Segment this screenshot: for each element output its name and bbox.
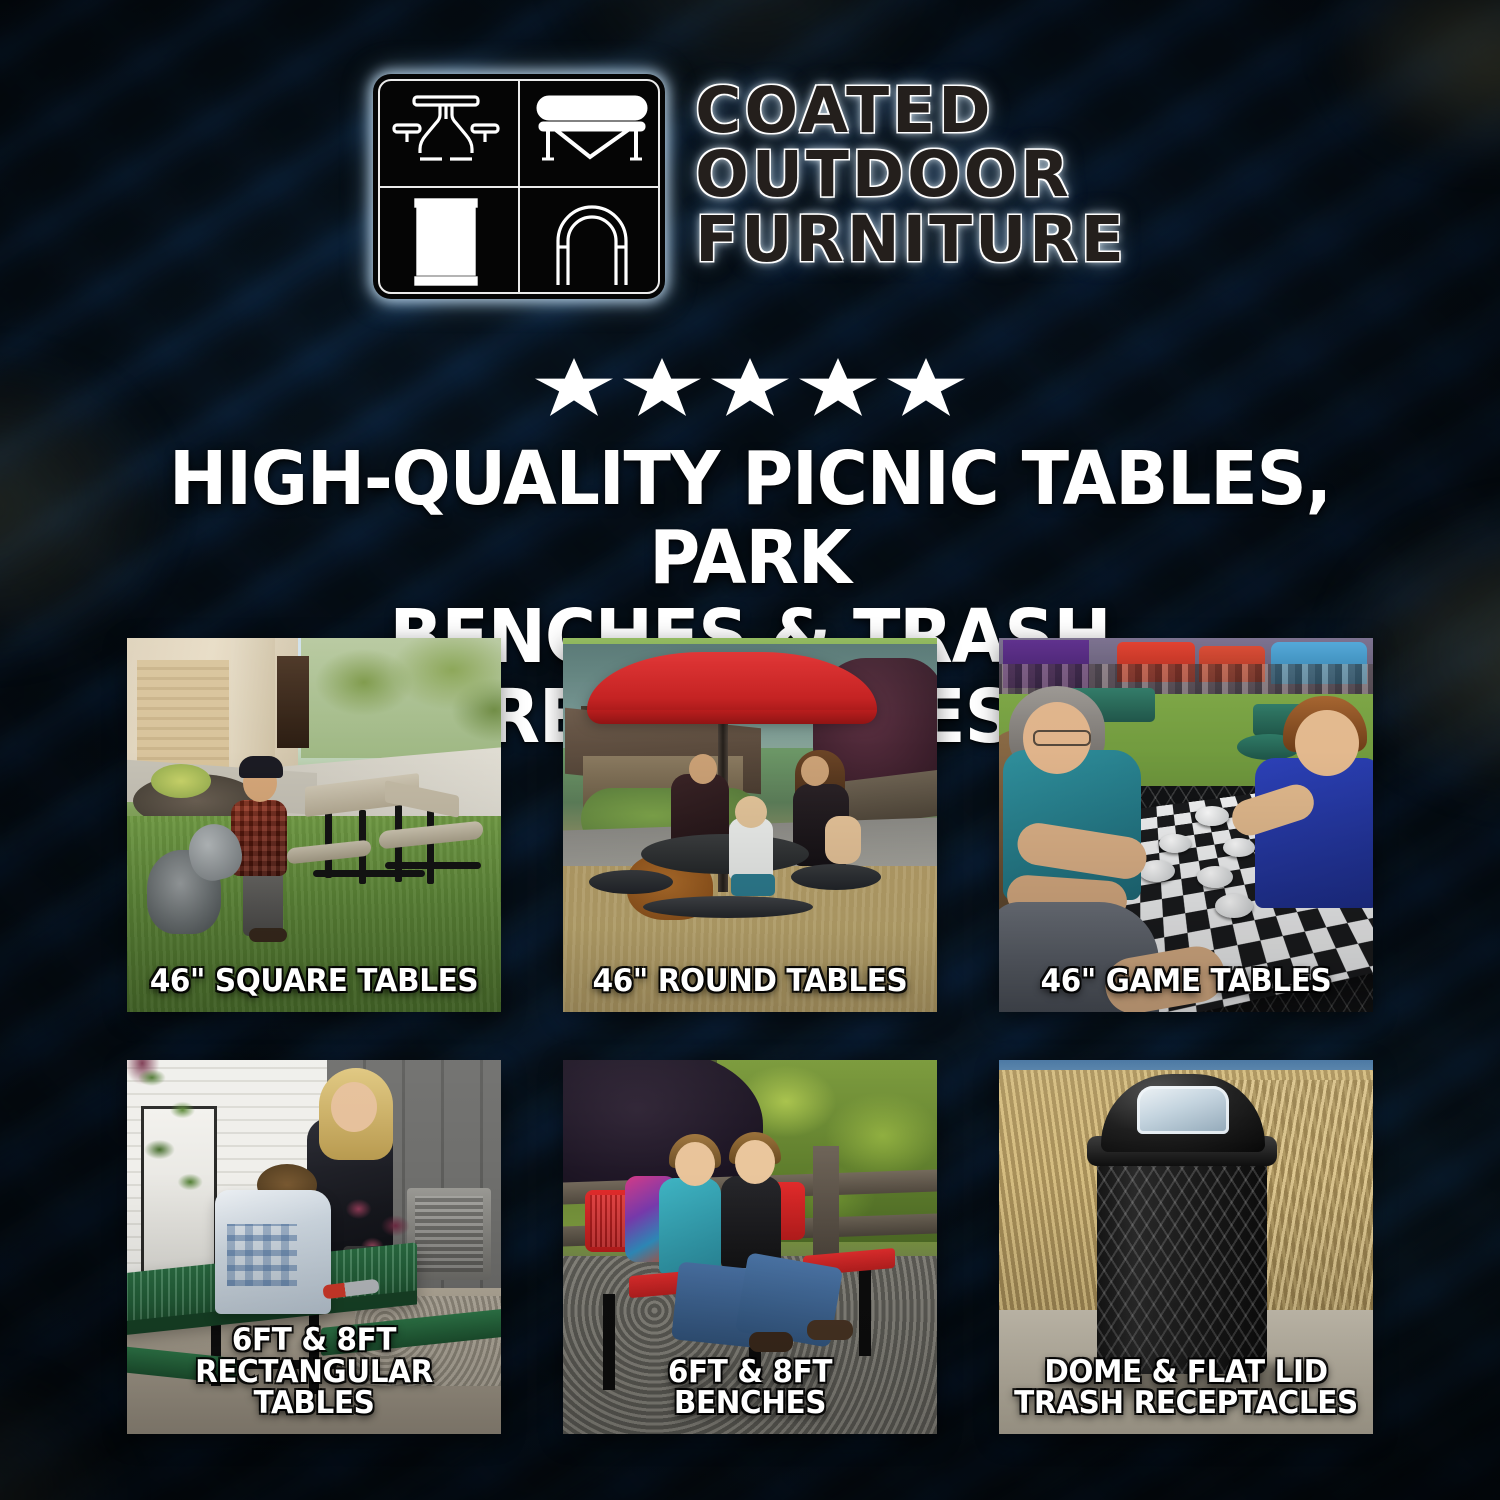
product-tile-rectangular-tables[interactable]: 6FT & 8FT RECTANGULAR TABLES	[127, 1060, 501, 1434]
star-icon	[535, 358, 613, 416]
product-grid: 46" SQUARE TABLES	[127, 638, 1373, 1434]
caption-line-1: 46" GAME TABLES	[1014, 966, 1358, 998]
headline-line-1: HIGH-QUALITY PICNIC TABLES, PARK	[139, 440, 1361, 598]
caption-line-1: 6FT & 8FT	[578, 1357, 922, 1389]
caption-line-1: 6FT & 8FT	[142, 1325, 486, 1357]
star-icon	[623, 358, 701, 416]
product-caption: 46" ROUND TABLES	[569, 966, 931, 998]
product-caption: 46" GAME TABLES	[1005, 966, 1367, 998]
caption-line-2: RECTANGULAR TABLES	[142, 1357, 486, 1420]
promotional-poster: COATED OUTDOOR FURNITURE HIGH-QUALITY PI…	[0, 0, 1500, 1500]
star-icon	[711, 358, 789, 416]
star-rating	[0, 358, 1500, 416]
product-photo-round-tables	[563, 638, 937, 1012]
bench-icon	[519, 74, 665, 187]
caption-line-2: TRASH RECEPTACLES	[1014, 1388, 1358, 1420]
caption-line-2: BENCHES	[578, 1388, 922, 1420]
product-tile-game-tables[interactable]: 46" GAME TABLES	[999, 638, 1373, 1012]
trash-receptacle-icon	[373, 187, 519, 300]
brand-line-2: OUTDOOR	[695, 144, 1127, 206]
product-caption: 6FT & 8FT RECTANGULAR TABLES	[133, 1325, 495, 1420]
product-tile-benches[interactable]: 6FT & 8FT BENCHES	[563, 1060, 937, 1434]
brand-line-1: COATED	[695, 80, 1127, 142]
caption-line-1: 46" SQUARE TABLES	[142, 966, 486, 998]
product-caption: 46" SQUARE TABLES	[133, 966, 495, 998]
product-caption: 6FT & 8FT BENCHES	[569, 1357, 931, 1420]
product-tile-trash-receptacles[interactable]: DOME & FLAT LID TRASH RECEPTACLES	[999, 1060, 1373, 1434]
product-photo-square-tables	[127, 638, 501, 1012]
picnic-table-icon	[373, 74, 519, 187]
star-icon	[799, 358, 877, 416]
brand-logo: COATED OUTDOOR FURNITURE	[0, 74, 1500, 299]
product-tile-round-tables[interactable]: 46" ROUND TABLES	[563, 638, 937, 1012]
brand-wordmark: COATED OUTDOOR FURNITURE	[695, 74, 1127, 271]
star-icon	[887, 358, 965, 416]
product-photo-game-tables	[999, 638, 1373, 1012]
caption-line-1: DOME & FLAT LID	[1014, 1357, 1358, 1389]
product-tile-square-tables[interactable]: 46" SQUARE TABLES	[127, 638, 501, 1012]
caption-line-1: 46" ROUND TABLES	[578, 966, 922, 998]
logo-mark	[373, 74, 665, 299]
brand-line-3: FURNITURE	[695, 209, 1127, 271]
arch-bike-rack-icon	[519, 187, 665, 300]
product-caption: DOME & FLAT LID TRASH RECEPTACLES	[1005, 1357, 1367, 1420]
